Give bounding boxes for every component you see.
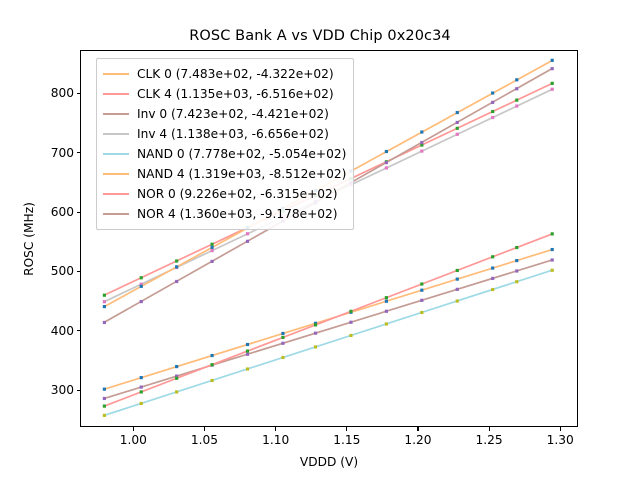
- data-point: [175, 259, 178, 262]
- legend-swatch-icon: [103, 153, 129, 155]
- data-point: [515, 259, 518, 262]
- data-point: [385, 150, 388, 153]
- data-point: [385, 300, 388, 303]
- data-point: [246, 343, 249, 346]
- data-point: [210, 246, 213, 249]
- data-point: [210, 363, 213, 366]
- data-point: [349, 321, 352, 324]
- legend-swatch-icon: [103, 93, 129, 95]
- legend-label: Inv 0 (7.423e+02, -4.421e+02): [137, 108, 329, 120]
- data-point: [210, 249, 213, 252]
- data-point: [210, 260, 213, 263]
- x-tick-label: 1.25: [475, 433, 502, 447]
- data-point: [491, 116, 494, 119]
- data-point: [515, 246, 518, 249]
- x-tick-mark: [417, 427, 418, 431]
- legend-item-inv-0: Inv 0 (7.423e+02, -4.421e+02): [103, 104, 346, 124]
- x-axis-label: VDDD (V): [80, 455, 578, 469]
- legend-swatch-icon: [103, 73, 129, 75]
- data-point: [515, 87, 518, 90]
- legend-item-nor-0: NOR 0 (9.226e+02, -6.315e+02): [103, 184, 346, 204]
- data-point: [140, 300, 143, 303]
- data-point: [551, 88, 554, 91]
- data-point: [491, 101, 494, 104]
- data-point: [103, 321, 106, 324]
- x-tick-label: 1.20: [404, 433, 431, 447]
- x-tick-label: 1.10: [262, 433, 289, 447]
- legend-item-clk-4: CLK 4 (1.135e+03, -6.516e+02): [103, 84, 346, 104]
- data-point: [314, 345, 317, 348]
- data-point: [385, 322, 388, 325]
- data-point: [551, 67, 554, 70]
- data-point: [281, 336, 284, 339]
- legend-label: CLK 4 (1.135e+03, -6.516e+02): [137, 88, 334, 100]
- legend-label: NOR 4 (1.360e+03, -9.178e+02): [137, 208, 338, 220]
- data-point: [491, 277, 494, 280]
- data-point: [349, 334, 352, 337]
- data-point: [103, 414, 106, 417]
- x-tick-label: 1.15: [333, 433, 360, 447]
- legend-swatch-icon: [103, 113, 129, 115]
- data-point: [551, 269, 554, 272]
- data-point: [420, 311, 423, 314]
- x-tick-mark: [275, 427, 276, 431]
- data-point: [420, 141, 423, 144]
- data-point: [385, 161, 388, 164]
- legend-item-nor-4: NOR 4 (1.360e+03, -9.178e+02): [103, 204, 346, 224]
- y-tick-label: 400: [36, 324, 74, 338]
- data-point: [175, 280, 178, 283]
- y-tick-label: 600: [36, 205, 74, 219]
- data-point: [551, 248, 554, 251]
- y-tick-label: 800: [36, 86, 74, 100]
- data-point: [175, 390, 178, 393]
- data-point: [491, 288, 494, 291]
- data-point: [175, 365, 178, 368]
- data-point: [420, 282, 423, 285]
- data-point: [456, 121, 459, 124]
- data-point: [281, 356, 284, 359]
- legend-item-nand-0: NAND 0 (7.778e+02, -5.054e+02): [103, 144, 346, 164]
- data-point: [314, 323, 317, 326]
- y-tick-label: 300: [36, 383, 74, 397]
- legend-swatch-icon: [103, 213, 129, 215]
- chart-figure: ROSC Bank A vs VDD Chip 0x20c34 ROSC (MH…: [0, 0, 640, 480]
- data-point: [140, 276, 143, 279]
- data-point: [456, 127, 459, 130]
- legend-item-inv-4: Inv 4 (1.138e+03, -6.656e+02): [103, 124, 346, 144]
- fit-line-nor-0: [104, 234, 552, 406]
- data-point: [515, 280, 518, 283]
- data-point: [551, 82, 554, 85]
- data-point: [551, 258, 554, 261]
- x-tick-mark: [204, 427, 205, 431]
- data-point: [281, 332, 284, 335]
- data-point: [456, 111, 459, 114]
- legend-swatch-icon: [103, 193, 129, 195]
- data-point: [314, 332, 317, 335]
- data-point: [385, 310, 388, 313]
- data-point: [175, 377, 178, 380]
- legend-label: Inv 4 (1.138e+03, -6.656e+02): [137, 128, 329, 140]
- data-point: [515, 269, 518, 272]
- chart-legend: CLK 0 (7.483e+02, -4.322e+02)CLK 4 (1.13…: [96, 58, 354, 230]
- data-point: [246, 240, 249, 243]
- data-point: [103, 397, 106, 400]
- data-point: [491, 266, 494, 269]
- x-tick-mark: [133, 427, 134, 431]
- data-point: [140, 385, 143, 388]
- data-point: [456, 133, 459, 136]
- legend-label: CLK 0 (7.483e+02, -4.322e+02): [137, 68, 334, 80]
- y-axis-label: ROSC (MHz): [22, 202, 36, 276]
- x-tick-mark: [560, 427, 561, 431]
- data-point: [140, 285, 143, 288]
- data-point: [103, 305, 106, 308]
- data-point: [420, 289, 423, 292]
- data-point: [456, 269, 459, 272]
- data-point: [103, 388, 106, 391]
- fit-line-inv-0: [104, 260, 552, 399]
- data-point: [491, 110, 494, 113]
- y-tick-label: 500: [36, 264, 74, 278]
- legend-swatch-icon: [103, 133, 129, 135]
- x-tick-mark: [489, 427, 490, 431]
- data-point: [420, 299, 423, 302]
- data-point: [103, 300, 106, 303]
- data-point: [515, 99, 518, 102]
- data-point: [420, 130, 423, 133]
- legend-label: NAND 4 (1.319e+03, -8.512e+02): [137, 168, 346, 180]
- legend-label: NOR 0 (9.226e+02, -6.315e+02): [137, 188, 338, 200]
- data-point: [103, 405, 106, 408]
- x-tick-label: 1.05: [191, 433, 218, 447]
- data-point: [140, 376, 143, 379]
- data-point: [281, 342, 284, 345]
- data-point: [551, 232, 554, 235]
- legend-item-nand-4: NAND 4 (1.319e+03, -8.512e+02): [103, 164, 346, 184]
- data-point: [246, 367, 249, 370]
- data-point: [491, 91, 494, 94]
- y-tick-label: 700: [36, 146, 74, 160]
- data-point: [210, 379, 213, 382]
- x-tick-label: 1.30: [547, 433, 574, 447]
- data-point: [456, 278, 459, 281]
- legend-label: NAND 0 (7.778e+02, -5.054e+02): [137, 148, 346, 160]
- data-point: [246, 349, 249, 352]
- data-point: [103, 294, 106, 297]
- data-point: [140, 390, 143, 393]
- data-point: [515, 78, 518, 81]
- data-point: [385, 296, 388, 299]
- data-point: [210, 243, 213, 246]
- data-point: [246, 232, 249, 235]
- data-point: [246, 353, 249, 356]
- data-point: [456, 299, 459, 302]
- x-tick-label: 1.00: [120, 433, 147, 447]
- chart-title: ROSC Bank A vs VDD Chip 0x20c34: [0, 28, 640, 44]
- data-point: [551, 59, 554, 62]
- x-tick-mark: [346, 427, 347, 431]
- data-point: [420, 150, 423, 153]
- data-point: [456, 288, 459, 291]
- data-point: [210, 354, 213, 357]
- data-point: [175, 265, 178, 268]
- legend-swatch-icon: [103, 173, 129, 175]
- data-point: [349, 310, 352, 313]
- data-point: [491, 255, 494, 258]
- data-point: [385, 166, 388, 169]
- legend-item-clk-0: CLK 0 (7.483e+02, -4.322e+02): [103, 64, 346, 84]
- fit-line-nand-0: [104, 270, 552, 415]
- data-point: [515, 104, 518, 107]
- data-point: [140, 402, 143, 405]
